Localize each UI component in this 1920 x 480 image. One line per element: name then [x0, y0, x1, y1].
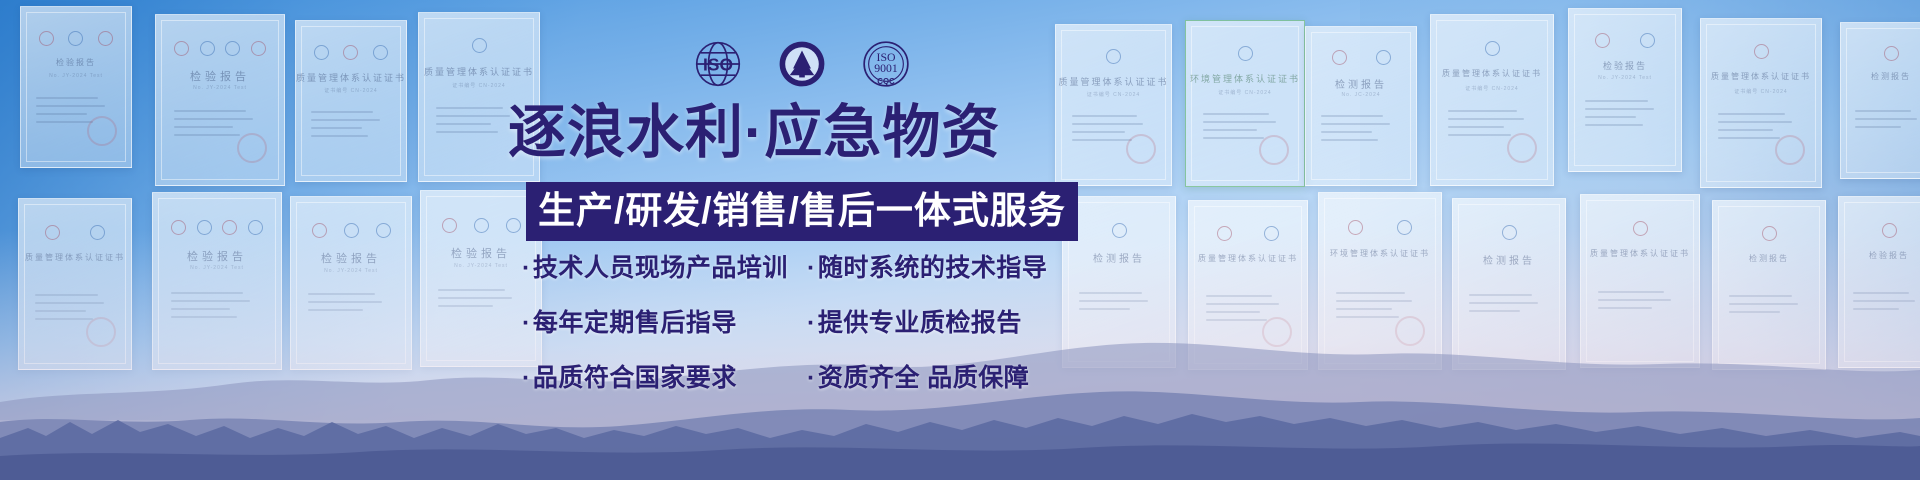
- certificate-title: 检测报告: [1453, 252, 1565, 267]
- service-scope-bar: 生产/研发/销售/售后一体式服务: [526, 182, 1078, 241]
- certificate-subtitle: 证书编号 CN-2024: [1431, 85, 1553, 92]
- feature-item: · 技术人员现场产品培训: [522, 248, 807, 284]
- certificate-title: 质量管理体系认证证书: [296, 71, 406, 84]
- certificate-subtitle: No. JY-2024 Test: [291, 268, 411, 274]
- bullet-icon: ·: [807, 364, 816, 393]
- certificate-title: 检验报告: [153, 248, 281, 264]
- iso-globe-badge-icon: ISO: [690, 36, 746, 92]
- feature-label: 资质齐全 品质保障: [818, 358, 1029, 394]
- certificate-title: 质量管理体系认证证书: [1701, 71, 1821, 82]
- bullet-icon: ·: [522, 254, 531, 283]
- bullet-icon: ·: [807, 309, 816, 338]
- feature-label: 品质符合国家要求: [533, 358, 737, 394]
- certificate-subtitle: No. JY-2024 Test: [156, 85, 284, 91]
- feature-item: · 提供专业质检报告: [807, 303, 1077, 339]
- iso-badge-label: ISO: [703, 55, 733, 75]
- certificate-card: 质量管理体系认证证书 证书编号 CN-2024: [1430, 14, 1554, 186]
- feature-item: · 资质齐全 品质保障: [807, 358, 1077, 394]
- certificate-title: 质量管理体系认证证书: [1189, 253, 1307, 264]
- certificate-card: 检验报告 No. JY-2024 Test: [20, 6, 132, 168]
- certificate-title: 检验报告: [21, 57, 131, 68]
- certificate-card: 检测报告 No. JC-2024: [1305, 26, 1417, 186]
- certificate-card: 环境管理体系认证证书 证书编号 CN-2024: [1185, 20, 1305, 187]
- certificate-card: 检测报告: [1840, 22, 1920, 179]
- feature-label: 随时系统的技术指导: [818, 248, 1048, 284]
- bullet-icon: ·: [522, 309, 531, 338]
- certification-badges: ISO ISO 9001 CQC: [690, 36, 914, 92]
- certificate-subtitle: No. JY-2024 Test: [1569, 75, 1681, 81]
- certificate-subtitle: No. JY-2024 Test: [153, 265, 281, 271]
- page-title: 逐浪水利·应急物资: [508, 104, 1088, 162]
- certificate-card: 质量管理体系认证证书 证书编号 CN-2024: [295, 20, 407, 182]
- promo-banner: 检验报告 No. JY-2024 Test 检验报告 No. JY-2024 T…: [0, 0, 1920, 480]
- certificate-title: 环境管理体系认证证书: [1186, 72, 1304, 85]
- feature-label: 技术人员现场产品培训: [533, 248, 788, 284]
- certificate-title: 检验报告: [291, 250, 411, 266]
- certificate-title: 检验报告: [156, 68, 284, 84]
- certificate-title: 检验报告: [1569, 59, 1681, 72]
- certificate-title: 检测报告: [1306, 76, 1416, 91]
- cqc-label: CQC: [877, 77, 895, 86]
- iso14000-badge-icon: [774, 36, 830, 92]
- certificate-subtitle: No. JY-2024 Test: [21, 73, 131, 79]
- certificate-title: 检验报告: [1839, 250, 1920, 261]
- feature-item: · 每年定期售后指导: [522, 303, 807, 339]
- iso9001-cqc-badge-icon: ISO 9001 CQC: [858, 36, 914, 92]
- certificate-subtitle: No. JC-2024: [1306, 92, 1416, 98]
- certificate-subtitle: 证书编号 CN-2024: [1186, 89, 1304, 96]
- certificate-title: 环境管理体系认证证书: [1319, 248, 1441, 259]
- certificate-card: 检验报告 No. JY-2024 Test: [1568, 8, 1682, 172]
- certificate-card: 检验报告 No. JY-2024 Test: [155, 14, 285, 186]
- certificate-card: 质量管理体系认证证书 证书编号 CN-2024: [1700, 18, 1822, 188]
- certificate-title: 质量管理体系认证证书: [1581, 248, 1699, 259]
- feature-item: · 品质符合国家要求: [522, 358, 807, 394]
- certificate-title: 检测报告: [1841, 71, 1920, 82]
- banner-content: ISO ISO 9001 CQC 逐浪水利·应急物资 生产/研发/销售/售后一体…: [500, 0, 1100, 480]
- feature-label: 提供专业质检报告: [818, 303, 1022, 339]
- certificate-subtitle: 证书编号 CN-2024: [296, 87, 406, 94]
- bullet-icon: ·: [522, 364, 531, 393]
- iso9001-line2: 9001: [874, 62, 898, 75]
- feature-item: · 随时系统的技术指导: [807, 248, 1077, 284]
- bullet-icon: ·: [807, 254, 816, 283]
- certificate-subtitle: 证书编号 CN-2024: [1701, 88, 1821, 95]
- certificate-title: 质量管理体系认证证书: [1431, 68, 1553, 79]
- feature-list: · 技术人员现场产品培训 · 随时系统的技术指导 · 每年定期售后指导 · 提供…: [522, 248, 1082, 394]
- feature-label: 每年定期售后指导: [533, 303, 737, 339]
- certificate-title: 质量管理体系认证证书: [19, 252, 131, 263]
- certificate-title: 检测报告: [1713, 253, 1825, 264]
